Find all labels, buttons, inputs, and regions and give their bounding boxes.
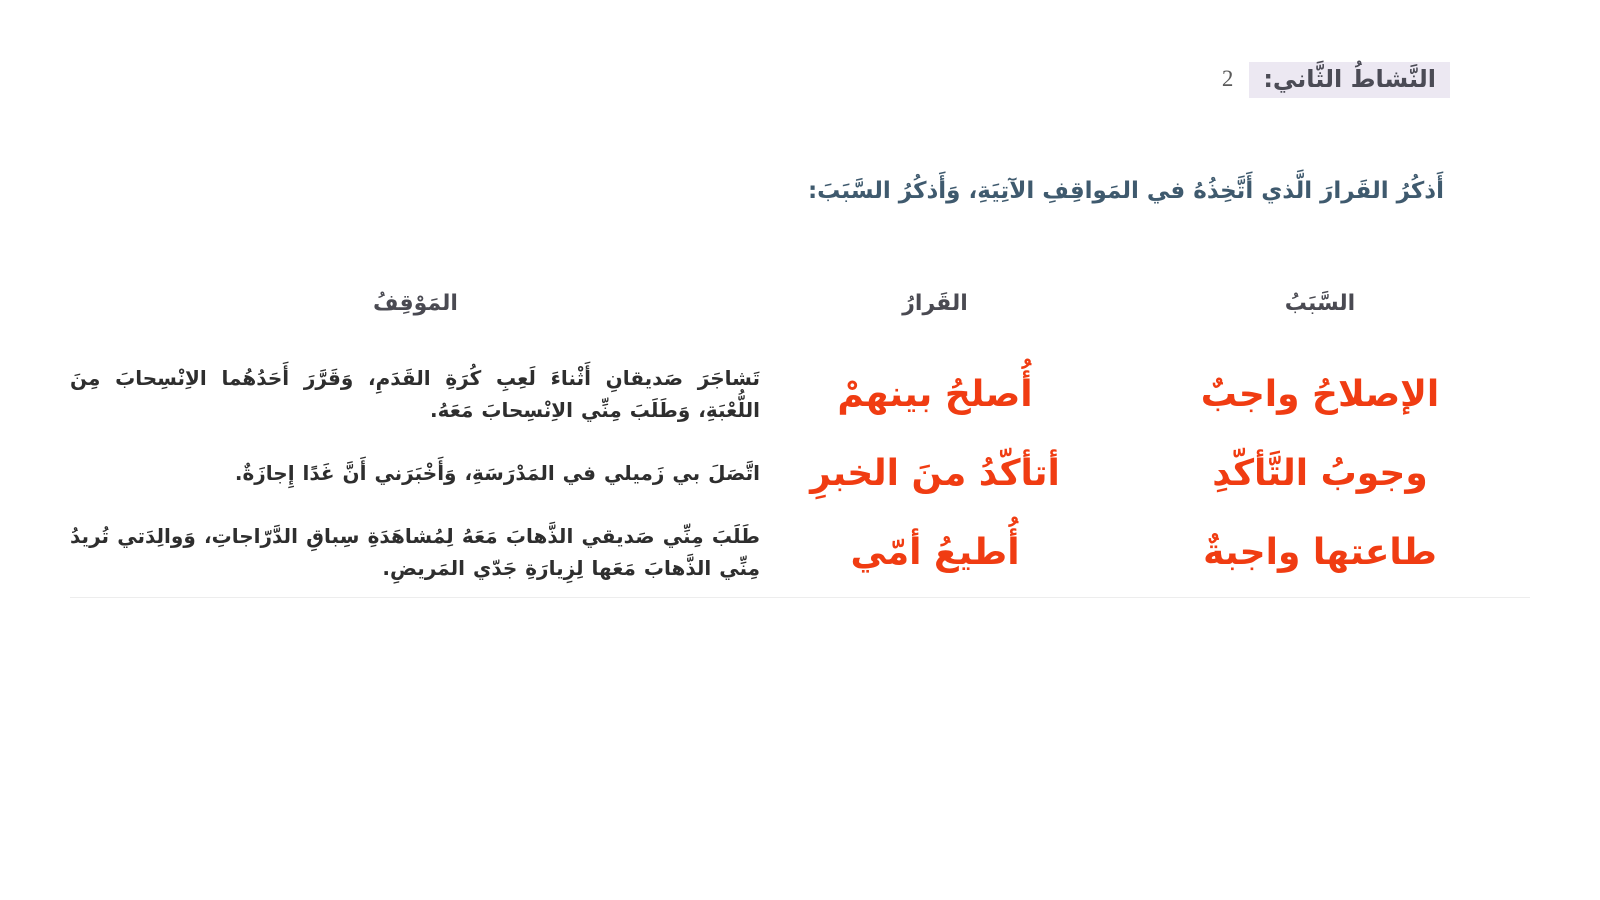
activity-title: النَّشاطُ الثَّاني: bbox=[1249, 62, 1450, 98]
cell-qarar[interactable]: أُصلحُ بينهمْ bbox=[760, 350, 1110, 439]
table-row: طاعتها واجبةٌ أُطيعُ أمّي طَلَبَ مِنِّي … bbox=[70, 508, 1530, 597]
cell-mawqif: اتَّصَلَ بي زَميلي في المَدْرَسَةِ، وَأَ… bbox=[70, 439, 760, 508]
cell-sabab[interactable]: الإصلاحُ واجبٌ bbox=[1110, 350, 1530, 439]
answer-sabab-3[interactable]: طاعتها واجبةٌ bbox=[1110, 530, 1530, 575]
cell-qarar[interactable]: أُطيعُ أمّي bbox=[760, 508, 1110, 597]
instruction-text: أَذكُرُ القَرارَ الَّذي أَتَّخِذُهُ في ا… bbox=[808, 178, 1444, 204]
table-row: وجوبُ التَّأكّدِ أتأكّدُ منَ الخبرِ اتَّ… bbox=[70, 439, 1530, 508]
answer-qarar-1[interactable]: أُصلحُ بينهمْ bbox=[760, 372, 1110, 417]
situation-text-3: طَلَبَ مِنِّي صَديقي الذَّهابَ مَعَهُ لِ… bbox=[70, 520, 760, 585]
table-body: الإصلاحُ واجبٌ أُصلحُ بينهمْ تَشاجَرَ صَ… bbox=[70, 350, 1530, 597]
answer-qarar-2[interactable]: أتأكّدُ منَ الخبرِ bbox=[760, 451, 1110, 496]
situation-text-1: تَشاجَرَ صَديقانِ أَثْناءَ لَعِبِ كُرَةِ… bbox=[70, 362, 760, 427]
cell-qarar[interactable]: أتأكّدُ منَ الخبرِ bbox=[760, 439, 1110, 508]
cell-sabab[interactable]: طاعتها واجبةٌ bbox=[1110, 508, 1530, 597]
situation-text-2: اتَّصَلَ بي زَميلي في المَدْرَسَةِ، وَأَ… bbox=[70, 457, 760, 489]
cell-sabab[interactable]: وجوبُ التَّأكّدِ bbox=[1110, 439, 1530, 508]
answer-sabab-2[interactable]: وجوبُ التَّأكّدِ bbox=[1110, 451, 1530, 496]
answers-table: السَّبَبُ القَرارُ المَوْقِفُ الإصلاحُ و… bbox=[70, 290, 1530, 598]
table-row: الإصلاحُ واجبٌ أُصلحُ بينهمْ تَشاجَرَ صَ… bbox=[70, 350, 1530, 439]
worksheet-page: النَّشاطُ الثَّاني: 2 أَذكُرُ القَرارَ ا… bbox=[0, 0, 1600, 900]
cell-mawqif: تَشاجَرَ صَديقانِ أَثْناءَ لَعِبِ كُرَةِ… bbox=[70, 350, 760, 439]
column-header-mawqif: المَوْقِفُ bbox=[70, 290, 760, 350]
answers-table-container: السَّبَبُ القَرارُ المَوْقِفُ الإصلاحُ و… bbox=[70, 290, 1530, 598]
answer-qarar-3[interactable]: أُطيعُ أمّي bbox=[760, 530, 1110, 575]
cell-mawqif: طَلَبَ مِنِّي صَديقي الذَّهابَ مَعَهُ لِ… bbox=[70, 508, 760, 597]
table-header-row: السَّبَبُ القَرارُ المَوْقِفُ bbox=[70, 290, 1530, 350]
activity-header: النَّشاطُ الثَّاني: 2 bbox=[1222, 62, 1450, 98]
activity-number: 2 bbox=[1222, 66, 1234, 94]
table-head: السَّبَبُ القَرارُ المَوْقِفُ bbox=[70, 290, 1530, 350]
answer-sabab-1[interactable]: الإصلاحُ واجبٌ bbox=[1110, 372, 1530, 417]
column-header-qarar: القَرارُ bbox=[760, 290, 1110, 350]
column-header-sabab: السَّبَبُ bbox=[1110, 290, 1530, 350]
